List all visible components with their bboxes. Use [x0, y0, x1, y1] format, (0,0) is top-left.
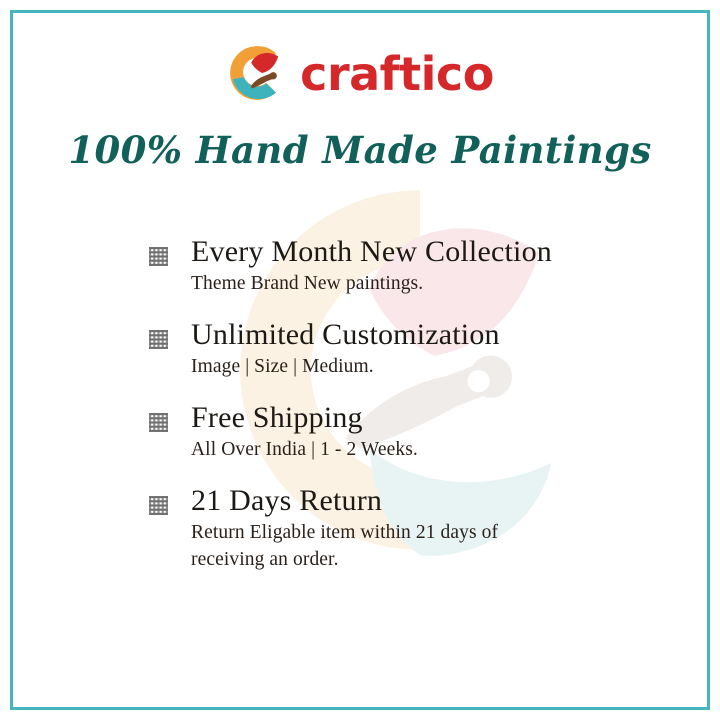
list-item: Unlimited Customization Image | Size | M…	[148, 317, 618, 381]
brand-logo: craftico	[0, 36, 720, 110]
feature-title: Unlimited Customization	[191, 317, 618, 352]
feature-subtitle: Theme Brand New paintings.	[191, 271, 618, 298]
list-item: Free Shipping All Over India | 1 - 2 Wee…	[148, 400, 618, 464]
feature-subtitle: Image | Size | Medium.	[191, 354, 618, 381]
feature-list: Every Month New Collection Theme Brand N…	[148, 234, 618, 573]
page-title: 100% Hand Made Paintings	[0, 128, 720, 172]
feature-title: 21 Days Return	[191, 483, 618, 518]
woven-square-bullet-icon	[148, 329, 169, 350]
feature-subtitle: All Over India | 1 - 2 Weeks.	[191, 437, 618, 464]
feature-title: Every Month New Collection	[191, 234, 618, 269]
brand-wordmark: craftico	[300, 51, 494, 97]
woven-square-bullet-icon	[148, 495, 169, 516]
list-item: Every Month New Collection Theme Brand N…	[148, 234, 618, 298]
promo-banner: craftico 100% Hand Made Paintings	[0, 0, 720, 720]
woven-square-bullet-icon	[148, 412, 169, 433]
woven-square-bullet-icon	[148, 246, 169, 267]
list-item: 21 Days Return Return Eligable item with…	[148, 483, 618, 573]
feature-title: Free Shipping	[191, 400, 618, 435]
craftico-logo-mark-icon	[226, 42, 288, 104]
feature-subtitle: Return Eligable item within 21 days of r…	[191, 520, 551, 573]
